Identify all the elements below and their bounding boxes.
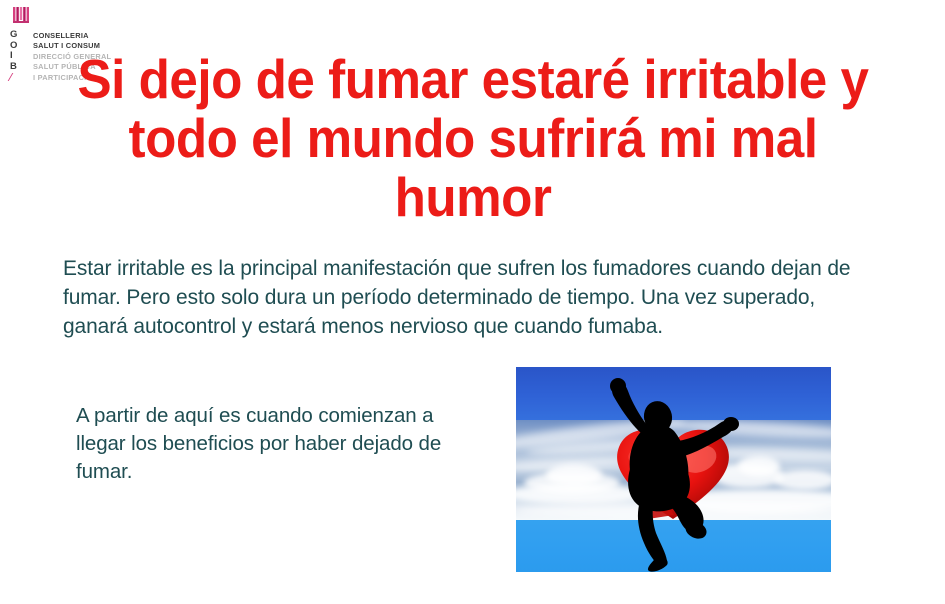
goib-letter: I: [10, 51, 13, 62]
goib-slash-mark-icon: [10, 73, 21, 82]
jumping-man-with-heart-photo: [516, 367, 831, 572]
body-paragraph-main: Estar irritable es la principal manifest…: [63, 254, 863, 341]
heart-and-silhouette-art: [516, 367, 831, 572]
body-paragraph-second: A partir de aquí es cuando comienzan a l…: [76, 402, 466, 486]
goib-letter: B: [10, 62, 17, 73]
slide-canvas: G O I B CONSELLERIA SALUT I CONSUM DIREC…: [0, 0, 945, 604]
goib-crest-emblem-icon: [12, 6, 34, 27]
slide-title: Si dejo de fumar estaré irritable y todo…: [50, 50, 896, 227]
goib-acronym: G O I B: [10, 30, 30, 84]
goib-letter: G: [10, 30, 17, 41]
logo-line-conselleria: CONSELLERIA: [33, 31, 143, 41]
